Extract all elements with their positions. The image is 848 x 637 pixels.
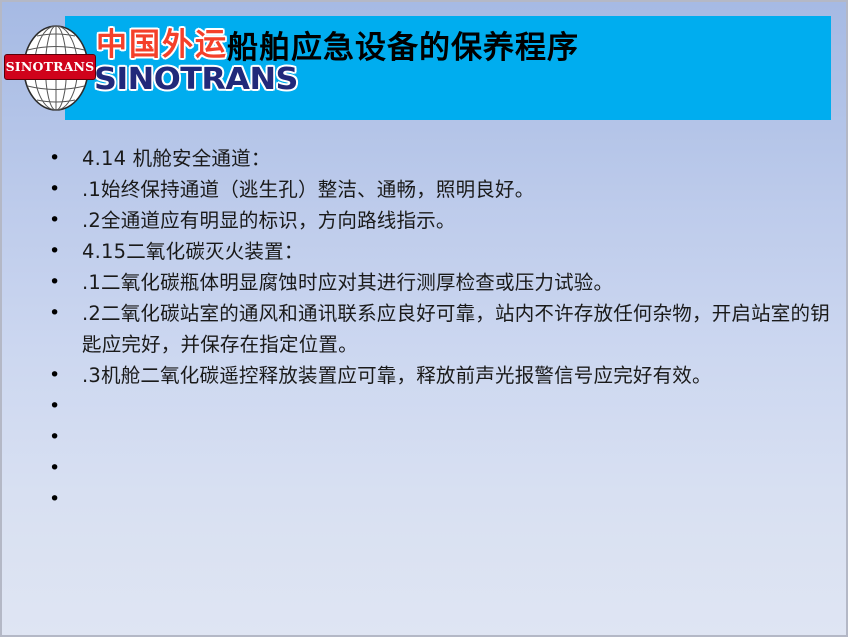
- bullet-icon: •: [44, 360, 82, 391]
- logo-chinese-name: 中国外运: [96, 28, 228, 62]
- list-item: •: [44, 484, 834, 515]
- page-title: 船舶应急设备的保养程序: [227, 26, 757, 70]
- list-item-text: [82, 422, 834, 452]
- list-item: • .2二氧化碳站室的通风和通讯联系应良好可靠，站内不许存放任何杂物，开启站室的…: [44, 298, 834, 360]
- list-item-text: [82, 391, 834, 421]
- list-item: • 4.14 机舱安全通道：: [44, 143, 834, 174]
- bullet-icon: •: [44, 484, 82, 515]
- bullet-icon: •: [44, 205, 82, 236]
- list-item: • .1二氧化碳瓶体明显腐蚀时应对其进行测厚检查或压力试验。: [44, 267, 834, 298]
- list-item: •: [44, 391, 834, 422]
- logo-english-name: SINOTRANS: [94, 63, 298, 97]
- list-item: •: [44, 422, 834, 453]
- bullet-icon: •: [44, 267, 82, 298]
- bullet-icon: •: [44, 174, 82, 205]
- company-logo: SINOTRANS 中国外运 SINOTRANS: [4, 18, 254, 122]
- bullet-icon: •: [44, 453, 82, 484]
- list-item: • .1始终保持通道（逃生孔）整洁、通畅，照明良好。: [44, 174, 834, 205]
- logo-badge-text: SINOTRANS: [4, 54, 96, 80]
- bullet-icon: •: [44, 298, 82, 329]
- list-item: • .3机舱二氧化碳遥控释放装置应可靠，释放前声光报警信号应完好有效。: [44, 360, 834, 391]
- list-item-text: [82, 484, 834, 514]
- list-item-text: .3机舱二氧化碳遥控释放装置应可靠，释放前声光报警信号应完好有效。: [82, 360, 834, 391]
- list-item-text: [82, 453, 834, 483]
- list-item: • .2全通道应有明显的标识，方向路线指示。: [44, 205, 834, 236]
- list-item-text: .1二氧化碳瓶体明显腐蚀时应对其进行测厚检查或压力试验。: [82, 267, 834, 298]
- list-item-text: 4.14 机舱安全通道：: [82, 143, 834, 174]
- bullet-icon: •: [44, 391, 82, 422]
- content-bullet-list: • 4.14 机舱安全通道： • .1始终保持通道（逃生孔）整洁、通畅，照明良好…: [44, 143, 834, 515]
- bullet-icon: •: [44, 143, 82, 174]
- list-item-text: 4.15二氧化碳灭火装置：: [82, 236, 834, 267]
- bullet-icon: •: [44, 236, 82, 267]
- list-item: •: [44, 453, 834, 484]
- bullet-icon: •: [44, 422, 82, 453]
- list-item-text: .2全通道应有明显的标识，方向路线指示。: [82, 205, 834, 236]
- list-item-text: .2二氧化碳站室的通风和通讯联系应良好可靠，站内不许存放任何杂物，开启站室的钥匙…: [82, 298, 834, 360]
- list-item-text: .1始终保持通道（逃生孔）整洁、通畅，照明良好。: [82, 174, 834, 205]
- list-item: • 4.15二氧化碳灭火装置：: [44, 236, 834, 267]
- presentation-slide: 船舶应急设备的保养程序 SINOTRANS 中国外运 SINOTRANS • 4…: [0, 0, 848, 637]
